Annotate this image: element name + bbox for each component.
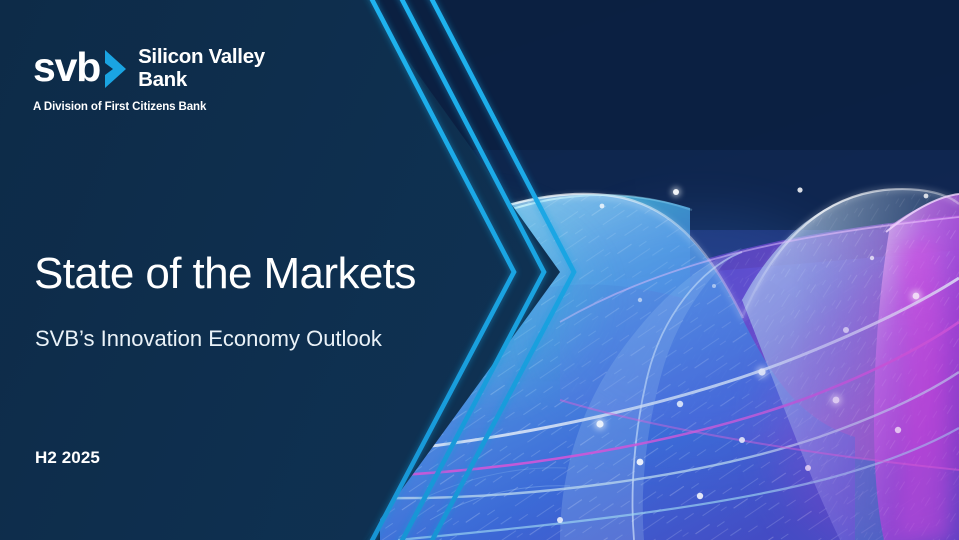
logo-bank-name-line1: Silicon Valley — [138, 46, 265, 69]
logo-tagline: A Division of First Citizens Bank — [33, 101, 333, 113]
logo-lockup: svb Silicon Valley Bank — [33, 42, 333, 94]
svb-wordmark: svb — [33, 44, 100, 90]
page-subtitle: SVB’s Innovation Economy Outlook — [35, 324, 382, 354]
logo-bank-name: Silicon Valley Bank — [138, 46, 265, 91]
page-title: State of the Markets — [34, 248, 416, 300]
logo-bank-name-line2: Bank — [138, 69, 265, 92]
chevron-right-icon — [102, 49, 128, 89]
report-period: H2 2025 — [35, 447, 100, 469]
title-slide: svb Silicon Valley Bank A Division of Fi… — [0, 0, 959, 540]
svb-logo: svb Silicon Valley Bank A Division of Fi… — [33, 42, 333, 117]
